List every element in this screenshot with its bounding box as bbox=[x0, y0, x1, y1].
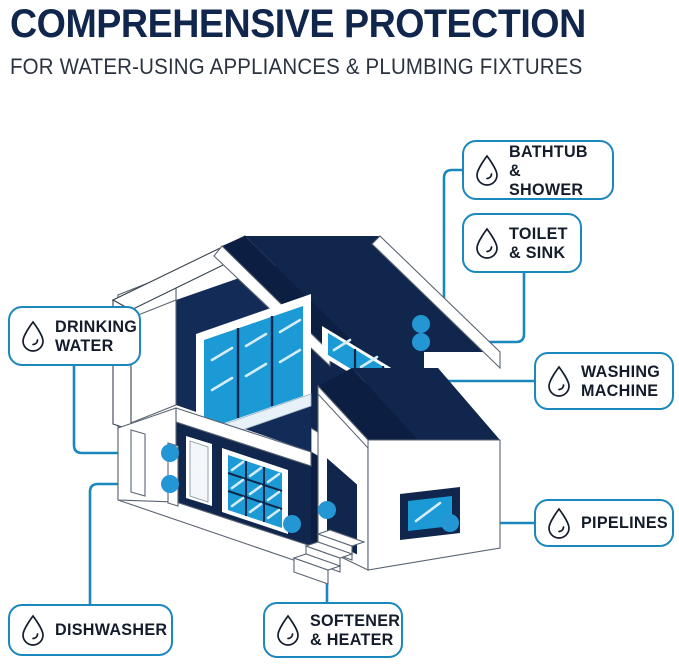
water-drop-icon bbox=[546, 365, 572, 398]
infographic-page: COMPREHENSIVE PROTECTION FOR WATER-USING… bbox=[0, 0, 679, 666]
water-drop-icon bbox=[474, 154, 500, 187]
label-text: SOFTENER & HEATER bbox=[310, 611, 400, 649]
label-text: BATHTUB & SHOWER bbox=[509, 142, 595, 199]
label-pipelines[interactable]: PIPELINES bbox=[534, 499, 674, 547]
label-text: DRINKING WATER bbox=[55, 317, 137, 355]
water-drop-icon bbox=[20, 614, 46, 647]
dot-toilet[interactable] bbox=[412, 333, 430, 351]
label-text: TOILET & SINK bbox=[509, 224, 568, 262]
dot-drinking[interactable] bbox=[161, 444, 179, 462]
label-washing-machine[interactable]: WASHING MACHINE bbox=[534, 352, 674, 410]
label-text: DISHWASHER bbox=[55, 620, 167, 640]
water-drop-icon bbox=[474, 227, 500, 260]
label-text: WASHING MACHINE bbox=[581, 362, 660, 400]
dot-pipelines[interactable] bbox=[441, 514, 459, 532]
water-drop-icon bbox=[546, 507, 572, 540]
water-drop-icon bbox=[20, 320, 46, 353]
porch-column-left bbox=[131, 430, 145, 496]
annex-body bbox=[294, 368, 500, 584]
dot-washing[interactable] bbox=[283, 515, 301, 533]
front-door-panel bbox=[190, 441, 208, 502]
label-toilet-sink[interactable]: TOILET & SINK bbox=[462, 213, 582, 273]
label-bathtub-shower[interactable]: BATHTUB & SHOWER bbox=[462, 140, 614, 200]
water-drop-icon bbox=[275, 614, 301, 647]
dot-softener[interactable] bbox=[318, 501, 336, 519]
label-drinking-water[interactable]: DRINKING WATER bbox=[8, 306, 141, 366]
dot-bathtub[interactable] bbox=[412, 315, 430, 333]
label-text: PIPELINES bbox=[581, 513, 668, 533]
dot-dishwasher[interactable] bbox=[161, 475, 179, 493]
label-dishwasher[interactable]: DISHWASHER bbox=[8, 604, 173, 656]
label-softener-heater[interactable]: SOFTENER & HEATER bbox=[263, 602, 403, 658]
